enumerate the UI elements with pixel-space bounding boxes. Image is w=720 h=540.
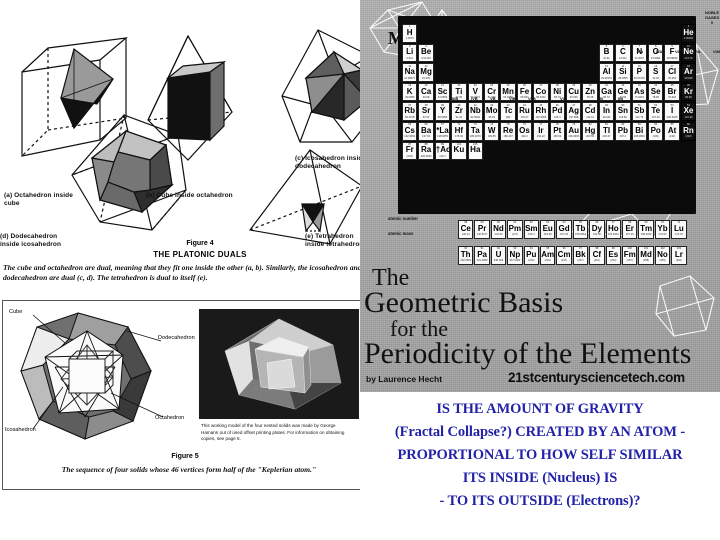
noble-gases-label: NOBLE GASES 0 bbox=[695, 10, 720, 25]
element-mass: 78.96 bbox=[649, 96, 662, 99]
element-mass: (243) bbox=[541, 259, 554, 262]
element-mass: 20.179 bbox=[682, 57, 695, 60]
group-label-IIIA: IIIA bbox=[637, 49, 643, 54]
element-symbol: Ga bbox=[600, 88, 613, 97]
group-label-IVA: IVA bbox=[656, 49, 662, 54]
element-cell-Sc[interactable]: 21Sc44.9559 bbox=[435, 83, 450, 102]
element-cell-Au[interactable]: 79Au196.9665 bbox=[566, 122, 581, 141]
element-symbol: V bbox=[469, 88, 482, 97]
element-mass: 131.30 bbox=[682, 116, 695, 119]
element-cell-Re[interactable]: 75Re186.207 bbox=[500, 122, 515, 141]
figure-4-diagram bbox=[0, 0, 400, 250]
element-symbol: Mg bbox=[419, 68, 432, 77]
element-symbol: Se bbox=[649, 88, 662, 97]
element-symbol: Te bbox=[649, 107, 662, 116]
element-cell-Gd[interactable]: 64Gd157.25 bbox=[556, 220, 571, 239]
element-cell-Nd[interactable]: 60Nd144.24 bbox=[491, 220, 506, 239]
figure-4-number: Figure 4 bbox=[100, 240, 300, 247]
element-cell-Ha[interactable]: 105Ha bbox=[468, 142, 483, 161]
figure-5-label-dodecahedron: Dodecahedron bbox=[158, 335, 195, 341]
element-mass: 144.24 bbox=[492, 233, 505, 236]
element-mass: 79.904 bbox=[665, 96, 678, 99]
element-mass: 107.868 bbox=[567, 116, 580, 119]
element-mass: 32.06 bbox=[649, 77, 662, 80]
element-mass: (223) bbox=[403, 155, 416, 158]
element-cell-Bi[interactable]: 83Bi208.9804 bbox=[632, 122, 647, 141]
figure-5-label-octahedron: Octahedron bbox=[155, 415, 184, 421]
element-cell-Th[interactable]: 90Th232.0381 bbox=[458, 246, 473, 265]
element-mass: (258) bbox=[639, 259, 652, 262]
group-label-VA: VA bbox=[675, 49, 680, 54]
element-symbol: Cu bbox=[567, 88, 580, 97]
element-cell-He[interactable]: 2He4.00260 bbox=[681, 24, 696, 43]
element-cell-Fr[interactable]: 87Fr(223) bbox=[402, 142, 417, 161]
element-mass: 195.09 bbox=[551, 135, 564, 138]
group-label-IB: IB bbox=[599, 96, 603, 101]
element-mass: 40.08 bbox=[419, 96, 432, 99]
element-cell-Cd[interactable]: 48Cd112.41 bbox=[582, 102, 597, 121]
element-cell-Si[interactable]: 14Si28.0855 bbox=[615, 63, 630, 82]
element-mass: 138.9055 bbox=[436, 135, 449, 138]
element-mass: (147) bbox=[508, 233, 521, 236]
element-symbol: Si bbox=[616, 68, 629, 77]
element-mass: 164.9304 bbox=[607, 233, 620, 236]
element-mass: 226.0254 bbox=[419, 155, 432, 158]
element-mass: 157.25 bbox=[557, 233, 570, 236]
element-cell-U[interactable]: 92U238.029 bbox=[491, 246, 506, 265]
group-label-VB: VB bbox=[490, 96, 496, 101]
element-symbol: Ra bbox=[419, 146, 432, 155]
element-mass: 102.9055 bbox=[534, 116, 547, 119]
element-mass: 114.82 bbox=[600, 116, 613, 119]
element-cell-Fm[interactable]: 100Fm(257) bbox=[622, 246, 637, 265]
element-cell-Es[interactable]: 99Es(254) bbox=[606, 246, 621, 265]
element-cell-Tm[interactable]: 69Tm168.9342 bbox=[638, 220, 653, 239]
element-mass: 162.50 bbox=[590, 233, 603, 236]
element-cell-Ca[interactable]: 20Ca40.08 bbox=[418, 83, 433, 102]
element-cell-La[interactable]: 57*La138.9055 bbox=[435, 122, 450, 141]
figure-4-platonic-duals: (a) Octahedron inside cube (b) Cube insi… bbox=[0, 0, 400, 290]
element-cell-Al[interactable]: 13Al26.98154 bbox=[599, 63, 614, 82]
element-symbol: Al bbox=[600, 68, 613, 77]
element-symbol: Kr bbox=[682, 88, 695, 97]
poster-byline: by Laurence Hecht bbox=[366, 374, 442, 384]
element-mass: 63.546 bbox=[567, 96, 580, 99]
element-symbol: Br bbox=[665, 88, 678, 97]
group-label-IIA: IIA bbox=[434, 43, 439, 48]
element-cell-Rn[interactable]: 86Rn(222) bbox=[681, 122, 696, 141]
element-cell-Ce[interactable]: 58Ce140.12 bbox=[458, 220, 473, 239]
wireframe-dodecahedron-bottomright bbox=[656, 276, 714, 336]
element-cell-Ru[interactable]: 44Ru101.07 bbox=[517, 102, 532, 121]
figure-5-photograph bbox=[199, 309, 359, 419]
element-cell-As[interactable]: 33As74.9216 bbox=[632, 83, 647, 102]
element-cell-Yb[interactable]: 70Yb173.04 bbox=[655, 220, 670, 239]
group-label-IIB: IIB bbox=[618, 96, 623, 101]
element-mass: 204.37 bbox=[600, 135, 613, 138]
element-symbol: Ru bbox=[518, 107, 531, 116]
element-symbol: S bbox=[649, 68, 662, 77]
screenshot-canvas: (a) Octahedron inside cube (b) Cube insi… bbox=[0, 0, 720, 540]
group-label-IIIB: IIIB bbox=[452, 96, 458, 101]
element-cell-Ra[interactable]: 88Ra226.0254 bbox=[418, 142, 433, 161]
element-symbol: Nb bbox=[469, 107, 482, 116]
element-mass: (257) bbox=[623, 259, 636, 262]
element-mass: 186.207 bbox=[501, 135, 514, 138]
element-mass: 83.80 bbox=[682, 96, 695, 99]
element-mass: 192.22 bbox=[534, 135, 547, 138]
element-symbol: Li bbox=[403, 48, 416, 57]
element-mass: 88.9059 bbox=[436, 116, 449, 119]
slogan-line-5: - TO ITS OUTSIDE (Electrons)? bbox=[360, 490, 720, 513]
element-symbol: Ge bbox=[616, 88, 629, 97]
element-cell-Lr[interactable]: 103Lr(260) bbox=[671, 246, 686, 265]
element-cell-Pd[interactable]: 46Pd106.4 bbox=[550, 102, 565, 121]
element-mass: 95.94 bbox=[485, 116, 498, 119]
element-symbol: B bbox=[600, 48, 613, 57]
element-mass: 118.69 bbox=[616, 116, 629, 119]
element-mass: (98) bbox=[501, 116, 514, 119]
element-mass: 167.26 bbox=[623, 233, 636, 236]
element-symbol: Ku bbox=[452, 146, 465, 155]
gravity-slogan: IS THE AMOUNT OF GRAVITY (Fractal Collap… bbox=[360, 398, 720, 513]
element-mass: 112.41 bbox=[583, 116, 596, 119]
element-cell-Na[interactable]: 11Na22.98977 bbox=[402, 63, 417, 82]
element-symbol: Fr bbox=[403, 146, 416, 155]
element-cell-Md[interactable]: 101Md(258) bbox=[638, 246, 653, 265]
element-cell-Mg[interactable]: 12Mg24.305 bbox=[418, 63, 433, 82]
element-cell-Ag[interactable]: 47Ag107.868 bbox=[566, 102, 581, 121]
element-mass: 231.0359 bbox=[475, 259, 488, 262]
element-cell-Ar[interactable]: 18Ar39.948 bbox=[681, 63, 696, 82]
element-mass: 91.22 bbox=[452, 116, 465, 119]
element-cell-Cu[interactable]: 29Cu63.546 bbox=[566, 83, 581, 102]
element-cell-At[interactable]: 85At(210) bbox=[664, 122, 679, 141]
element-mass: 39.0983 bbox=[403, 96, 416, 99]
element-cell-Sb[interactable]: 51Sb121.75 bbox=[632, 102, 647, 121]
figure-4-caption: The cube and octahedron are dual, meanin… bbox=[3, 263, 393, 284]
element-mass: (227) bbox=[436, 155, 449, 158]
poster-website[interactable]: 21stcenturysciencetech.com bbox=[508, 370, 685, 385]
slogan-line-2: (Fractal Collapse?) CREATED BY AN ATOM - bbox=[360, 421, 720, 444]
element-symbol: Cl bbox=[665, 68, 678, 77]
element-symbol: Xe bbox=[682, 107, 695, 116]
element-cell-I[interactable]: 53I126.9045 bbox=[664, 102, 679, 121]
group-label-VIIB: VIIB bbox=[528, 96, 536, 101]
element-cell-Ba[interactable]: 56Ba137.33 bbox=[418, 122, 433, 141]
element-cell-Cl[interactable]: 17Cl35.453 bbox=[664, 63, 679, 82]
element-cell-Ir[interactable]: 77Ir192.22 bbox=[533, 122, 548, 141]
element-mass: 168.9342 bbox=[639, 233, 652, 236]
element-cell-K[interactable]: 19K39.0983 bbox=[402, 83, 417, 102]
element-symbol: Sn bbox=[616, 107, 629, 116]
element-cell-Be[interactable]: 4Be9.01218 bbox=[418, 44, 433, 63]
element-symbol: Pd bbox=[551, 107, 564, 116]
element-mass: 106.4 bbox=[551, 116, 564, 119]
element-symbol: Rb bbox=[403, 107, 416, 116]
element-mass: 180.9479 bbox=[469, 135, 482, 138]
slogan-line-4: ITS INSIDE (Nucleus) IS bbox=[360, 467, 720, 490]
element-cell-Pa[interactable]: 91Pa231.0359 bbox=[474, 246, 489, 265]
element-symbol: Cd bbox=[583, 107, 596, 116]
element-cell-C[interactable]: 6C12.011 bbox=[615, 44, 630, 63]
element-symbol: Sb bbox=[633, 107, 646, 116]
figure-5-label-cube: Cube bbox=[9, 309, 22, 315]
group-label-IVB: IVB bbox=[471, 96, 478, 101]
element-mass: 140.9077 bbox=[475, 233, 488, 236]
figure-5-caption: The sequence of four solids whose 46 ver… bbox=[29, 465, 349, 475]
figure-5-nested-solids: Cube Dodecahedron Icosahedron Octahedron… bbox=[2, 300, 368, 490]
element-cell-Pt[interactable]: 78Pt195.09 bbox=[550, 122, 565, 141]
element-mass: 207.2 bbox=[616, 135, 629, 138]
atomic-number-label: atomic number bbox=[388, 216, 418, 221]
element-symbol: C bbox=[616, 48, 629, 57]
element-symbol: Fe bbox=[518, 88, 531, 97]
element-cell-Ho[interactable]: 67Ho164.9304 bbox=[606, 220, 621, 239]
element-mass: 74.9216 bbox=[633, 96, 646, 99]
figure-5-lineart bbox=[21, 313, 163, 439]
element-cell-Os[interactable]: 76Os190.2 bbox=[517, 122, 532, 141]
element-cell-Am[interactable]: 95Am(243) bbox=[540, 246, 555, 265]
element-cell-Li[interactable]: 3Li6.941 bbox=[402, 44, 417, 63]
element-mass: 28.0855 bbox=[616, 77, 629, 80]
element-cell-Er[interactable]: 68Er167.26 bbox=[622, 220, 637, 239]
figure-5-number: Figure 5 bbox=[85, 453, 285, 460]
element-cell-Zn[interactable]: 30Zn65.38 bbox=[582, 83, 597, 102]
element-mass: (254) bbox=[607, 259, 620, 262]
element-mass: 14.0067 bbox=[633, 57, 646, 60]
element-mass: 101.07 bbox=[518, 116, 531, 119]
element-symbol: As bbox=[633, 88, 646, 97]
element-cell-Np[interactable]: 93Np237.0482 bbox=[507, 246, 522, 265]
element-symbol: Mn bbox=[501, 88, 514, 97]
element-mass: 150.4 bbox=[525, 233, 538, 236]
element-cell-P[interactable]: 15P30.97376 bbox=[632, 63, 647, 82]
element-mass: (222) bbox=[682, 135, 695, 138]
element-mass: (247) bbox=[574, 259, 587, 262]
element-cell-Eu[interactable]: 63Eu151.96 bbox=[540, 220, 555, 239]
element-symbol: P bbox=[633, 68, 646, 77]
element-mass: 85.4678 bbox=[403, 116, 416, 119]
element-cell-Se[interactable]: 34Se78.96 bbox=[648, 83, 663, 102]
element-mass: 232.0381 bbox=[459, 259, 472, 262]
element-symbol: Ha bbox=[469, 146, 482, 155]
element-mass: 92.9064 bbox=[469, 116, 482, 119]
element-mass: 174.97 bbox=[672, 233, 685, 236]
element-mass: 200.59 bbox=[583, 135, 596, 138]
element-cell-Te[interactable]: 52Te127.60 bbox=[648, 102, 663, 121]
slogan-line-1: IS THE AMOUNT OF GRAVITY bbox=[360, 398, 720, 421]
figure-5-photo-caption: This working model of the four nested so… bbox=[201, 423, 351, 443]
element-mass: 65.38 bbox=[583, 96, 596, 99]
element-cell-Cs[interactable]: 55Cs132.9054 bbox=[402, 122, 417, 141]
element-mass: 15.9994 bbox=[649, 57, 662, 60]
element-cell-Pb[interactable]: 82Pb207.2 bbox=[615, 122, 630, 141]
element-mass: 4.00260 bbox=[682, 37, 695, 40]
element-mass: 190.2 bbox=[518, 135, 531, 138]
element-mass: 30.97376 bbox=[633, 77, 646, 80]
element-mass: (209) bbox=[649, 135, 662, 138]
element-cell-Pr[interactable]: 59Pr140.9077 bbox=[474, 220, 489, 239]
element-cell-Pm[interactable]: 61Pm(147) bbox=[507, 220, 522, 239]
element-cell-Mo[interactable]: 42Mo95.94 bbox=[484, 102, 499, 121]
element-mass: (247) bbox=[557, 259, 570, 262]
element-mass: 140.12 bbox=[459, 233, 472, 236]
figure-5-diagram bbox=[3, 301, 367, 489]
element-cell-Sr[interactable]: 38Sr87.62 bbox=[418, 102, 433, 121]
element-cell-S[interactable]: 16S32.06 bbox=[648, 63, 663, 82]
element-symbol: I bbox=[665, 107, 678, 116]
group-label-VIII: VIII bbox=[560, 96, 566, 101]
element-mass: 137.33 bbox=[419, 135, 432, 138]
element-mass: 6.941 bbox=[403, 57, 416, 60]
element-symbol: Be bbox=[419, 48, 432, 57]
periodic-table: 1H1.00792He4.002603Li6.9414Be9.012185B10… bbox=[400, 8, 720, 258]
element-cell-No[interactable]: 102No(259) bbox=[655, 246, 670, 265]
element-cell-Ku[interactable]: 104Ku bbox=[451, 142, 466, 161]
solid-octahedron-in-cube bbox=[22, 38, 126, 156]
element-cell-Tc[interactable]: 43Tc(98) bbox=[500, 102, 515, 121]
element-cell-B[interactable]: 5B10.81 bbox=[599, 44, 614, 63]
element-symbol: Zn bbox=[583, 88, 596, 97]
element-mass: 44.9559 bbox=[436, 96, 449, 99]
element-mass: 39.948 bbox=[682, 77, 695, 80]
element-symbol: Zr bbox=[452, 107, 465, 116]
element-cell-Ac[interactable]: 89†Ac(227) bbox=[435, 142, 450, 161]
element-mass: 173.04 bbox=[656, 233, 669, 236]
element-cell-Tb[interactable]: 65Tb158.9254 bbox=[573, 220, 588, 239]
element-symbol: Co bbox=[534, 88, 547, 97]
element-symbol: Ag bbox=[567, 107, 580, 116]
element-symbol: K bbox=[403, 88, 416, 97]
element-mass: 10.81 bbox=[600, 57, 613, 60]
element-mass: 151.96 bbox=[541, 233, 554, 236]
element-symbol: Na bbox=[403, 68, 416, 77]
figure-5-label-icosahedron: Icosahedron bbox=[5, 427, 36, 433]
element-mass: 132.9054 bbox=[403, 135, 416, 138]
element-mass: (244) bbox=[525, 259, 538, 262]
group-label-VIA: VIA bbox=[694, 49, 701, 54]
element-mass: 127.60 bbox=[649, 116, 662, 119]
figure-4-label-d: (d) Dodecahedron inside icosahedron bbox=[0, 233, 86, 249]
element-mass: (251) bbox=[590, 259, 603, 262]
element-cell-Sm[interactable]: 62Sm150.4 bbox=[524, 220, 539, 239]
element-cell-Cf[interactable]: 98Cf(251) bbox=[589, 246, 604, 265]
element-cell-Rb[interactable]: 37Rb85.4678 bbox=[402, 102, 417, 121]
element-cell-Pu[interactable]: 94Pu(244) bbox=[524, 246, 539, 265]
element-symbol: Ca bbox=[419, 88, 432, 97]
solid-dodecahedron-in-icosahedron bbox=[72, 115, 186, 230]
group-label-VIB: VIB bbox=[509, 96, 516, 101]
element-cell-Cm[interactable]: 96Cm(247) bbox=[556, 246, 571, 265]
element-cell-Rh[interactable]: 45Rh102.9055 bbox=[533, 102, 548, 121]
element-mass: 238.029 bbox=[492, 259, 505, 262]
element-symbol: Y bbox=[436, 107, 449, 116]
element-mass: 196.9665 bbox=[567, 135, 580, 138]
element-mass: (260) bbox=[672, 259, 685, 262]
element-mass: 87.62 bbox=[419, 116, 432, 119]
element-cell-Y[interactable]: 39Y88.9059 bbox=[435, 102, 450, 121]
element-mass: 12.011 bbox=[616, 57, 629, 60]
element-mass: 18.99840 bbox=[665, 57, 678, 60]
figure-4-label-a: (a) Octahedron inside cube bbox=[4, 192, 90, 208]
element-cell-Xe[interactable]: 54Xe131.30 bbox=[681, 102, 696, 121]
element-symbol: †Ac bbox=[436, 146, 449, 155]
element-cell-Bk[interactable]: 97Bk(247) bbox=[573, 246, 588, 265]
element-cell-In[interactable]: 49In114.82 bbox=[599, 102, 614, 121]
element-cell-Po[interactable]: 84Po(209) bbox=[648, 122, 663, 141]
element-cell-Lu[interactable]: 71Lu174.97 bbox=[671, 220, 686, 239]
element-cell-Sn[interactable]: 50Sn118.69 bbox=[615, 102, 630, 121]
element-mass: 183.85 bbox=[485, 135, 498, 138]
figure-4-label-b: (b) Cube inside octahedron bbox=[146, 192, 266, 200]
element-cell-Dy[interactable]: 66Dy162.50 bbox=[589, 220, 604, 239]
element-symbol: Cr bbox=[485, 88, 498, 97]
element-cell-Tl[interactable]: 81Tl204.37 bbox=[599, 122, 614, 141]
element-cell-W[interactable]: 74W183.85 bbox=[484, 122, 499, 141]
element-mass: (259) bbox=[656, 259, 669, 262]
element-mass: (210) bbox=[665, 135, 678, 138]
element-cell-Hf[interactable]: 72Hf178.49 bbox=[451, 122, 466, 141]
element-symbol: Mo bbox=[485, 107, 498, 116]
slogan-line-3: PROPORTIONAL TO HOW SELF SIMILAR bbox=[360, 444, 720, 467]
element-mass: 35.453 bbox=[665, 77, 678, 80]
poster-title-line-4: Periodicity of the Elements bbox=[364, 337, 691, 371]
element-mass: 22.98977 bbox=[403, 77, 416, 80]
poster-title-line-2: Geometric Basis bbox=[364, 286, 563, 320]
element-mass: 24.305 bbox=[419, 77, 432, 80]
element-cell-Br[interactable]: 35Br79.904 bbox=[664, 83, 679, 102]
element-symbol: Sr bbox=[419, 107, 432, 116]
element-mass: 208.9804 bbox=[633, 135, 646, 138]
element-cell-Nb[interactable]: 41Nb92.9064 bbox=[468, 102, 483, 121]
element-cell-H[interactable]: 1H1.0079 bbox=[402, 24, 417, 43]
element-symbol: Sc bbox=[436, 88, 449, 97]
element-mass: 26.98154 bbox=[600, 77, 613, 80]
figure-4-title: THE PLATONIC DUALS bbox=[100, 250, 300, 259]
group-label-VIIA: VIIA bbox=[713, 49, 720, 54]
scanned-magazine-page: (a) Octahedron inside cube (b) Cube insi… bbox=[0, 0, 400, 540]
element-mass: 121.75 bbox=[633, 116, 646, 119]
element-mass: 126.9045 bbox=[665, 116, 678, 119]
element-symbol: Tc bbox=[501, 107, 514, 116]
element-symbol: In bbox=[600, 107, 613, 116]
element-cell-Hg[interactable]: 80Hg200.59 bbox=[582, 122, 597, 141]
element-mass: 58.9332 bbox=[534, 96, 547, 99]
element-mass: 178.49 bbox=[452, 135, 465, 138]
element-symbol: Rh bbox=[534, 107, 547, 116]
element-mass: 237.0482 bbox=[508, 259, 521, 262]
element-symbol: Ar bbox=[682, 68, 695, 77]
noble-label-3: 0 bbox=[711, 20, 713, 25]
element-cell-Zr[interactable]: 40Zr91.22 bbox=[451, 102, 466, 121]
element-cell-Ta[interactable]: 73Ta180.9479 bbox=[468, 122, 483, 141]
element-mass: 158.9254 bbox=[574, 233, 587, 236]
element-symbol: Ti bbox=[452, 88, 465, 97]
element-mass: 1.0079 bbox=[403, 37, 416, 40]
element-mass: 9.01218 bbox=[419, 57, 432, 60]
atomic-mass-label: atomic mass bbox=[388, 231, 413, 236]
element-cell-Kr[interactable]: 36Kr83.80 bbox=[681, 83, 696, 102]
group-label-IA: IA bbox=[418, 22, 422, 27]
element-symbol: Ni bbox=[551, 88, 564, 97]
